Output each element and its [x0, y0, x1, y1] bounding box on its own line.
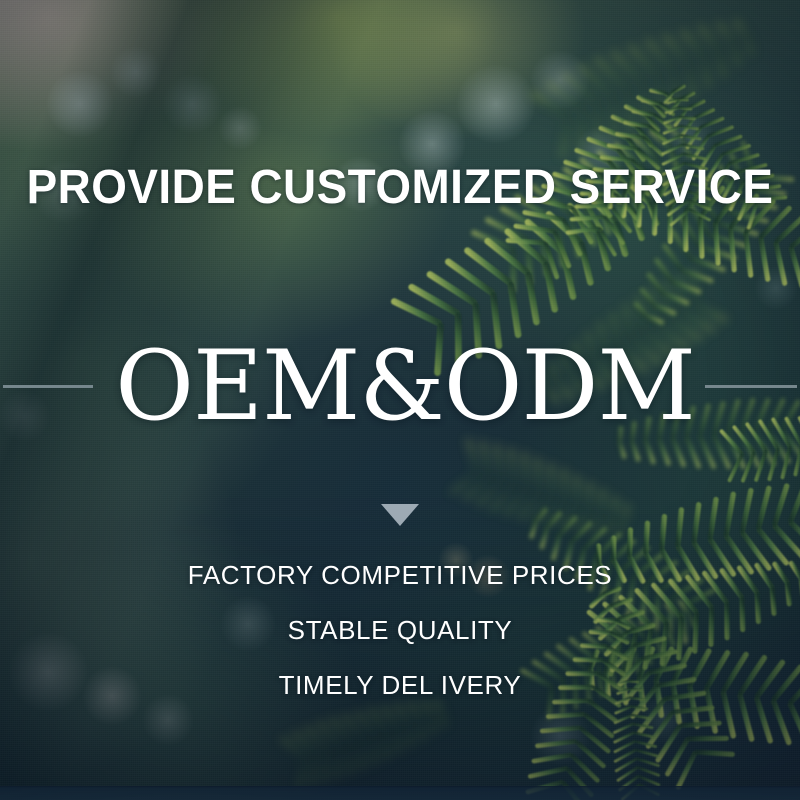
brand-title: OEM&ODM	[115, 338, 695, 434]
divider-left	[3, 385, 93, 388]
banner-content: PROVIDE CUSTOMIZED SERVICE OEM&ODM FACTO…	[0, 0, 800, 800]
benefits-list: FACTORY COMPETITIVE PRICES STABLE QUALIT…	[0, 562, 800, 698]
brand-row: OEM&ODM	[0, 336, 800, 436]
benefit-item: TIMELY DEL IVERY	[0, 672, 800, 698]
benefit-item: STABLE QUALITY	[0, 617, 800, 643]
benefit-item: FACTORY COMPETITIVE PRICES	[0, 562, 800, 588]
triangle-down-icon	[381, 504, 419, 526]
divider-right	[705, 385, 797, 388]
headline: PROVIDE CUSTOMIZED SERVICE	[18, 164, 782, 212]
promo-banner: PROVIDE CUSTOMIZED SERVICE OEM&ODM FACTO…	[0, 0, 800, 800]
